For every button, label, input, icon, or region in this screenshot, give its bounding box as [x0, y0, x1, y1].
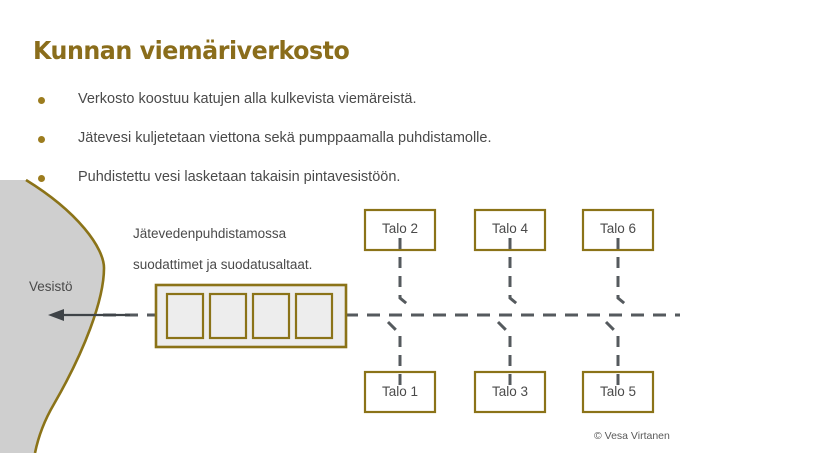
plant-filter-cell-4: [296, 294, 332, 338]
house-label-talo-4: Talo 4: [475, 221, 545, 236]
house-label-talo-2: Talo 2: [365, 221, 435, 236]
plant-filter-cell-2: [210, 294, 246, 338]
slide-canvas: Kunnan viemäriverkosto Verkosto koostuu …: [0, 0, 825, 453]
plant-filter-cell-1: [167, 294, 203, 338]
plant-caption-line-2: suodattimet ja suodatusaltaat.: [133, 249, 312, 280]
house-label-talo-6: Talo 6: [583, 221, 653, 236]
water-body-label: Vesistö: [29, 279, 73, 294]
copyright-notice: © Vesa Virtanen: [594, 430, 670, 442]
plant-caption-line-1: Jätevedenpuhdistamossa: [133, 218, 312, 249]
house-label-talo-3: Talo 3: [475, 384, 545, 399]
plant-filter-cell-3: [253, 294, 289, 338]
house-label-talo-1: Talo 1: [365, 384, 435, 399]
house-label-talo-5: Talo 5: [583, 384, 653, 399]
plant-caption: Jätevedenpuhdistamossa suodattimet ja su…: [133, 218, 312, 280]
